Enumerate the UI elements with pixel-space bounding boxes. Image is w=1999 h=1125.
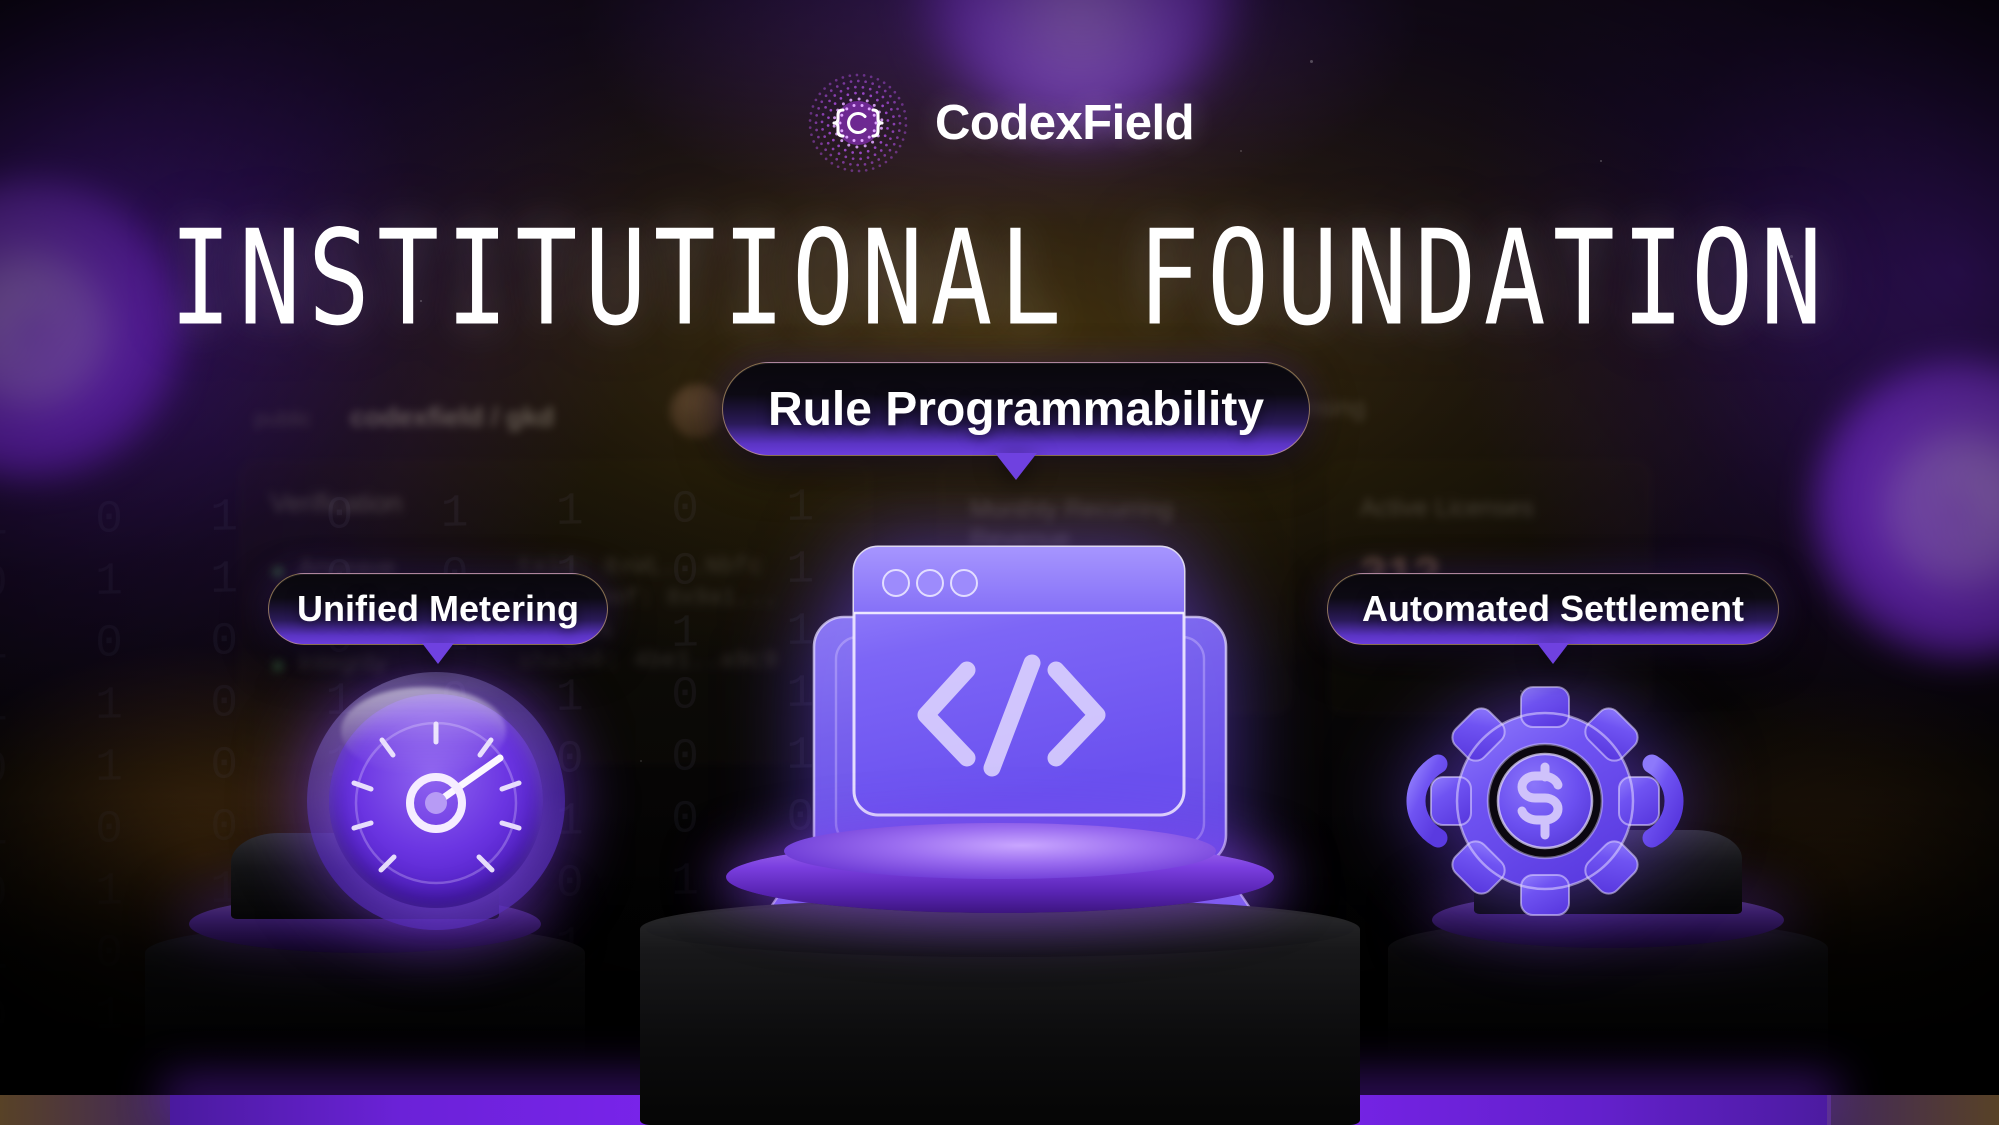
podium-left <box>145 905 585 1125</box>
orb-swirl <box>1889 438 1999 582</box>
pill-label: Rule Programmability <box>768 382 1264 437</box>
pill-label: Unified Metering <box>297 588 579 630</box>
pill-pointer-icon <box>995 453 1037 480</box>
pill-label: Automated Settlement <box>1362 588 1744 630</box>
repo-path: codexfield / gkd <box>350 402 554 433</box>
gauge-highlight <box>341 687 506 775</box>
pill-pointer-icon <box>1537 643 1569 664</box>
brand-name: CodexField <box>935 95 1194 151</box>
pill-pointer-icon <box>422 643 454 664</box>
floor-strip-right-cap <box>1827 1095 1999 1125</box>
verification-title: Verification <box>270 488 402 519</box>
pill-rule-programmability[interactable]: Rule Programmability <box>722 362 1310 456</box>
gear-dollar-icon <box>1400 672 1690 930</box>
status-dot <box>272 660 284 672</box>
logo-svg <box>805 70 911 176</box>
repo-path-prefix: public <box>254 406 311 432</box>
podium-center <box>640 885 1360 1125</box>
status-dot <box>272 566 284 578</box>
brand-lockup: CodexField <box>0 70 1999 176</box>
pill-unified-metering[interactable]: Unified Metering <box>268 573 608 645</box>
gauge-meter-icon <box>307 672 565 930</box>
codexfield-dotted-c-logo-icon <box>805 70 911 176</box>
licenses-label: Active Licenses <box>1360 494 1534 523</box>
floor-strip-left-cap <box>0 1095 172 1125</box>
status-row-value: sha256: 4be1..a9c9 <box>518 648 777 675</box>
gear-svg <box>1400 672 1690 930</box>
podium-right <box>1388 900 1828 1125</box>
hero-stage: 1 0 1 0 1 1 0 1 0 1 1 0 0 1 0 1 1 0 0 0 … <box>0 0 1999 1125</box>
pill-automated-settlement[interactable]: Automated Settlement <box>1327 573 1779 645</box>
avatar <box>670 384 724 438</box>
brand-orb-right-icon <box>1811 360 1999 660</box>
podium-glow-disc <box>784 823 1216 879</box>
page-title: INSTITUTIONAL FOUNDATION <box>0 213 1999 344</box>
star <box>1310 60 1313 63</box>
star <box>640 760 642 762</box>
